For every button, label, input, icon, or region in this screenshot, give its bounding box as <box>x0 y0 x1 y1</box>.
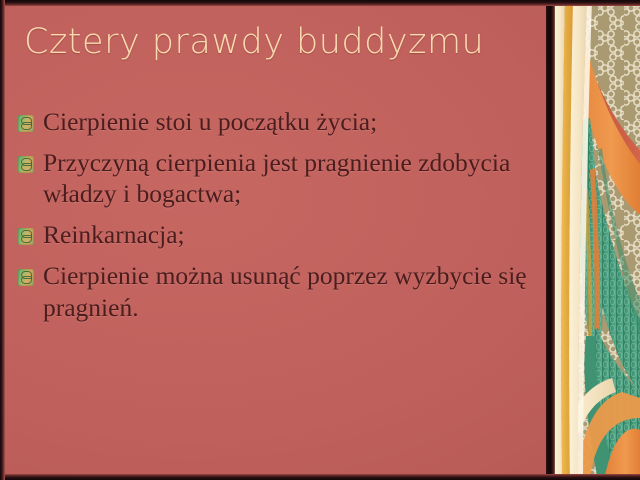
decorative-border-panel <box>546 0 640 480</box>
list-item: Cierpienie stoi u początku życia; <box>18 106 534 137</box>
list-item: Reinkarnacja; <box>18 219 534 250</box>
list-item: Cierpienie można usunąć poprzez wyzbycie… <box>18 260 534 322</box>
leaf-ornament-bullet-icon <box>18 228 34 245</box>
bullet-list: Cierpienie stoi u początku życia; Przycz… <box>18 106 534 333</box>
list-item-label: Przyczyną cierpienia jest pragnienie zdo… <box>43 147 534 209</box>
list-item-label: Reinkarnacja; <box>43 219 185 250</box>
list-item-label: Cierpienie można usunąć poprzez wyzbycie… <box>43 260 534 322</box>
slide: Cztery prawdy buddyzmu Cierpienie stoi u… <box>0 0 640 480</box>
leaf-ornament-bullet-icon <box>18 269 34 286</box>
page-title: Cztery prawdy buddyzmu <box>24 22 534 62</box>
list-item: Przyczyną cierpienia jest pragnienie zdo… <box>18 147 534 209</box>
floral-ribbon-graphic <box>546 0 640 480</box>
leaf-ornament-bullet-icon <box>18 156 34 173</box>
panel-divider <box>546 0 555 480</box>
list-item-label: Cierpienie stoi u początku życia; <box>43 106 377 137</box>
leaf-ornament-bullet-icon <box>18 115 34 132</box>
